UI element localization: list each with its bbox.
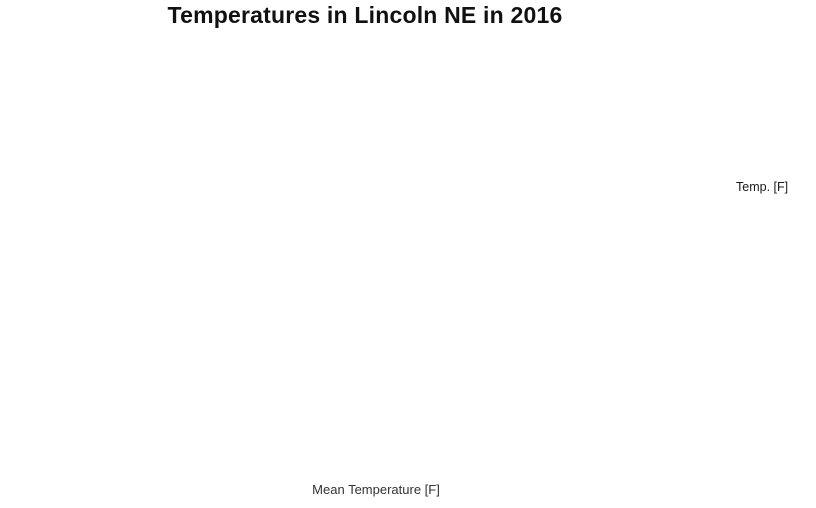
legend-colorbar [740,213,766,323]
page-title: Temperatures in Lincoln NE in 2016 [0,2,730,29]
legend-title: Temp. [F] [736,180,788,194]
ridgeline-svg [30,30,722,462]
legend-tick-labels [766,213,812,323]
ridgeline-chart: Temperatures in Lincoln NE in 2016 Mean … [0,0,816,508]
x-axis-tick-labels [30,463,722,479]
legend: Temp. [F] [736,180,814,330]
x-axis-title: Mean Temperature [F] [30,482,722,497]
plot-panel [30,30,722,462]
